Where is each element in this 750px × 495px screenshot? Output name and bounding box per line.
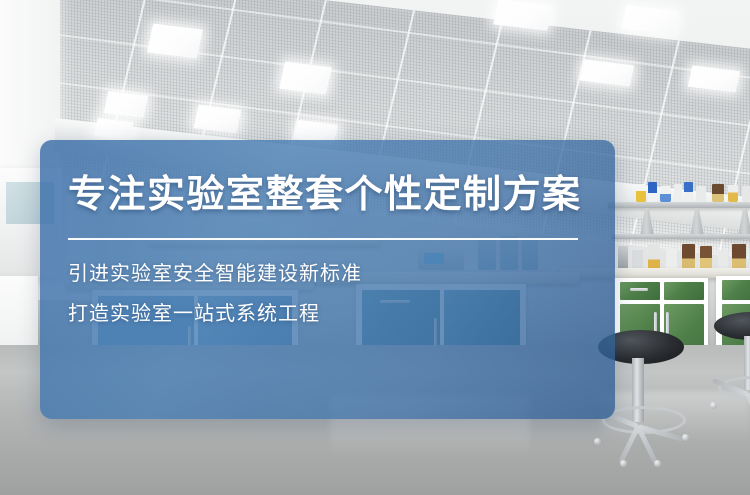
led-panel-light xyxy=(104,91,149,118)
stool-caster xyxy=(682,434,689,441)
cabinet-door-green xyxy=(722,280,750,300)
led-panel-light xyxy=(193,105,241,134)
reagent-bottle xyxy=(712,184,724,202)
stool-base-leg xyxy=(746,394,750,427)
led-panel-light xyxy=(279,61,332,94)
reagent-bottle xyxy=(636,184,646,202)
title-divider xyxy=(68,238,578,240)
lab-container xyxy=(682,244,695,270)
lab-stool xyxy=(706,312,750,422)
reagent-bottle xyxy=(674,184,682,202)
laboratory-promo-banner: 专注实验室整套个性定制方案 引进实验室安全智能建设新标准 打造实验室一站式系统工… xyxy=(0,0,750,495)
lab-container xyxy=(666,248,677,270)
lab-container xyxy=(618,246,628,270)
reagent-bottle xyxy=(660,186,671,202)
lab-container xyxy=(700,246,712,270)
led-panel-light xyxy=(147,23,203,58)
cabinet-door-green xyxy=(664,282,704,300)
stool-caster xyxy=(654,460,661,467)
headline-overlay-card: 专注实验室整套个性定制方案 引进实验室安全智能建设新标准 打造实验室一站式系统工… xyxy=(40,140,615,419)
stool-caster xyxy=(620,460,627,467)
subtitle-line-2: 打造实验室一站式系统工程 xyxy=(68,304,320,324)
stool-caster xyxy=(594,438,601,445)
reagent-bottle xyxy=(648,182,657,202)
reagent-bottle xyxy=(728,185,738,202)
page-title: 专注实验室整套个性定制方案 xyxy=(68,176,582,214)
reagent-shelf-upper xyxy=(608,202,750,208)
reagent-bottle xyxy=(742,186,750,202)
lab-container xyxy=(648,244,660,270)
reagent-bottle xyxy=(684,182,693,202)
lab-container xyxy=(632,250,643,270)
drawer-handle xyxy=(630,288,648,291)
subtitle-line-1: 引进实验室安全智能建设新标准 xyxy=(68,264,362,284)
lab-container xyxy=(718,250,728,270)
stool-caster xyxy=(710,402,717,409)
lab-container xyxy=(732,244,746,270)
cabinet-door-green xyxy=(620,282,660,300)
reagent-shelf-lower xyxy=(612,234,750,239)
reagent-bottle xyxy=(696,186,706,202)
